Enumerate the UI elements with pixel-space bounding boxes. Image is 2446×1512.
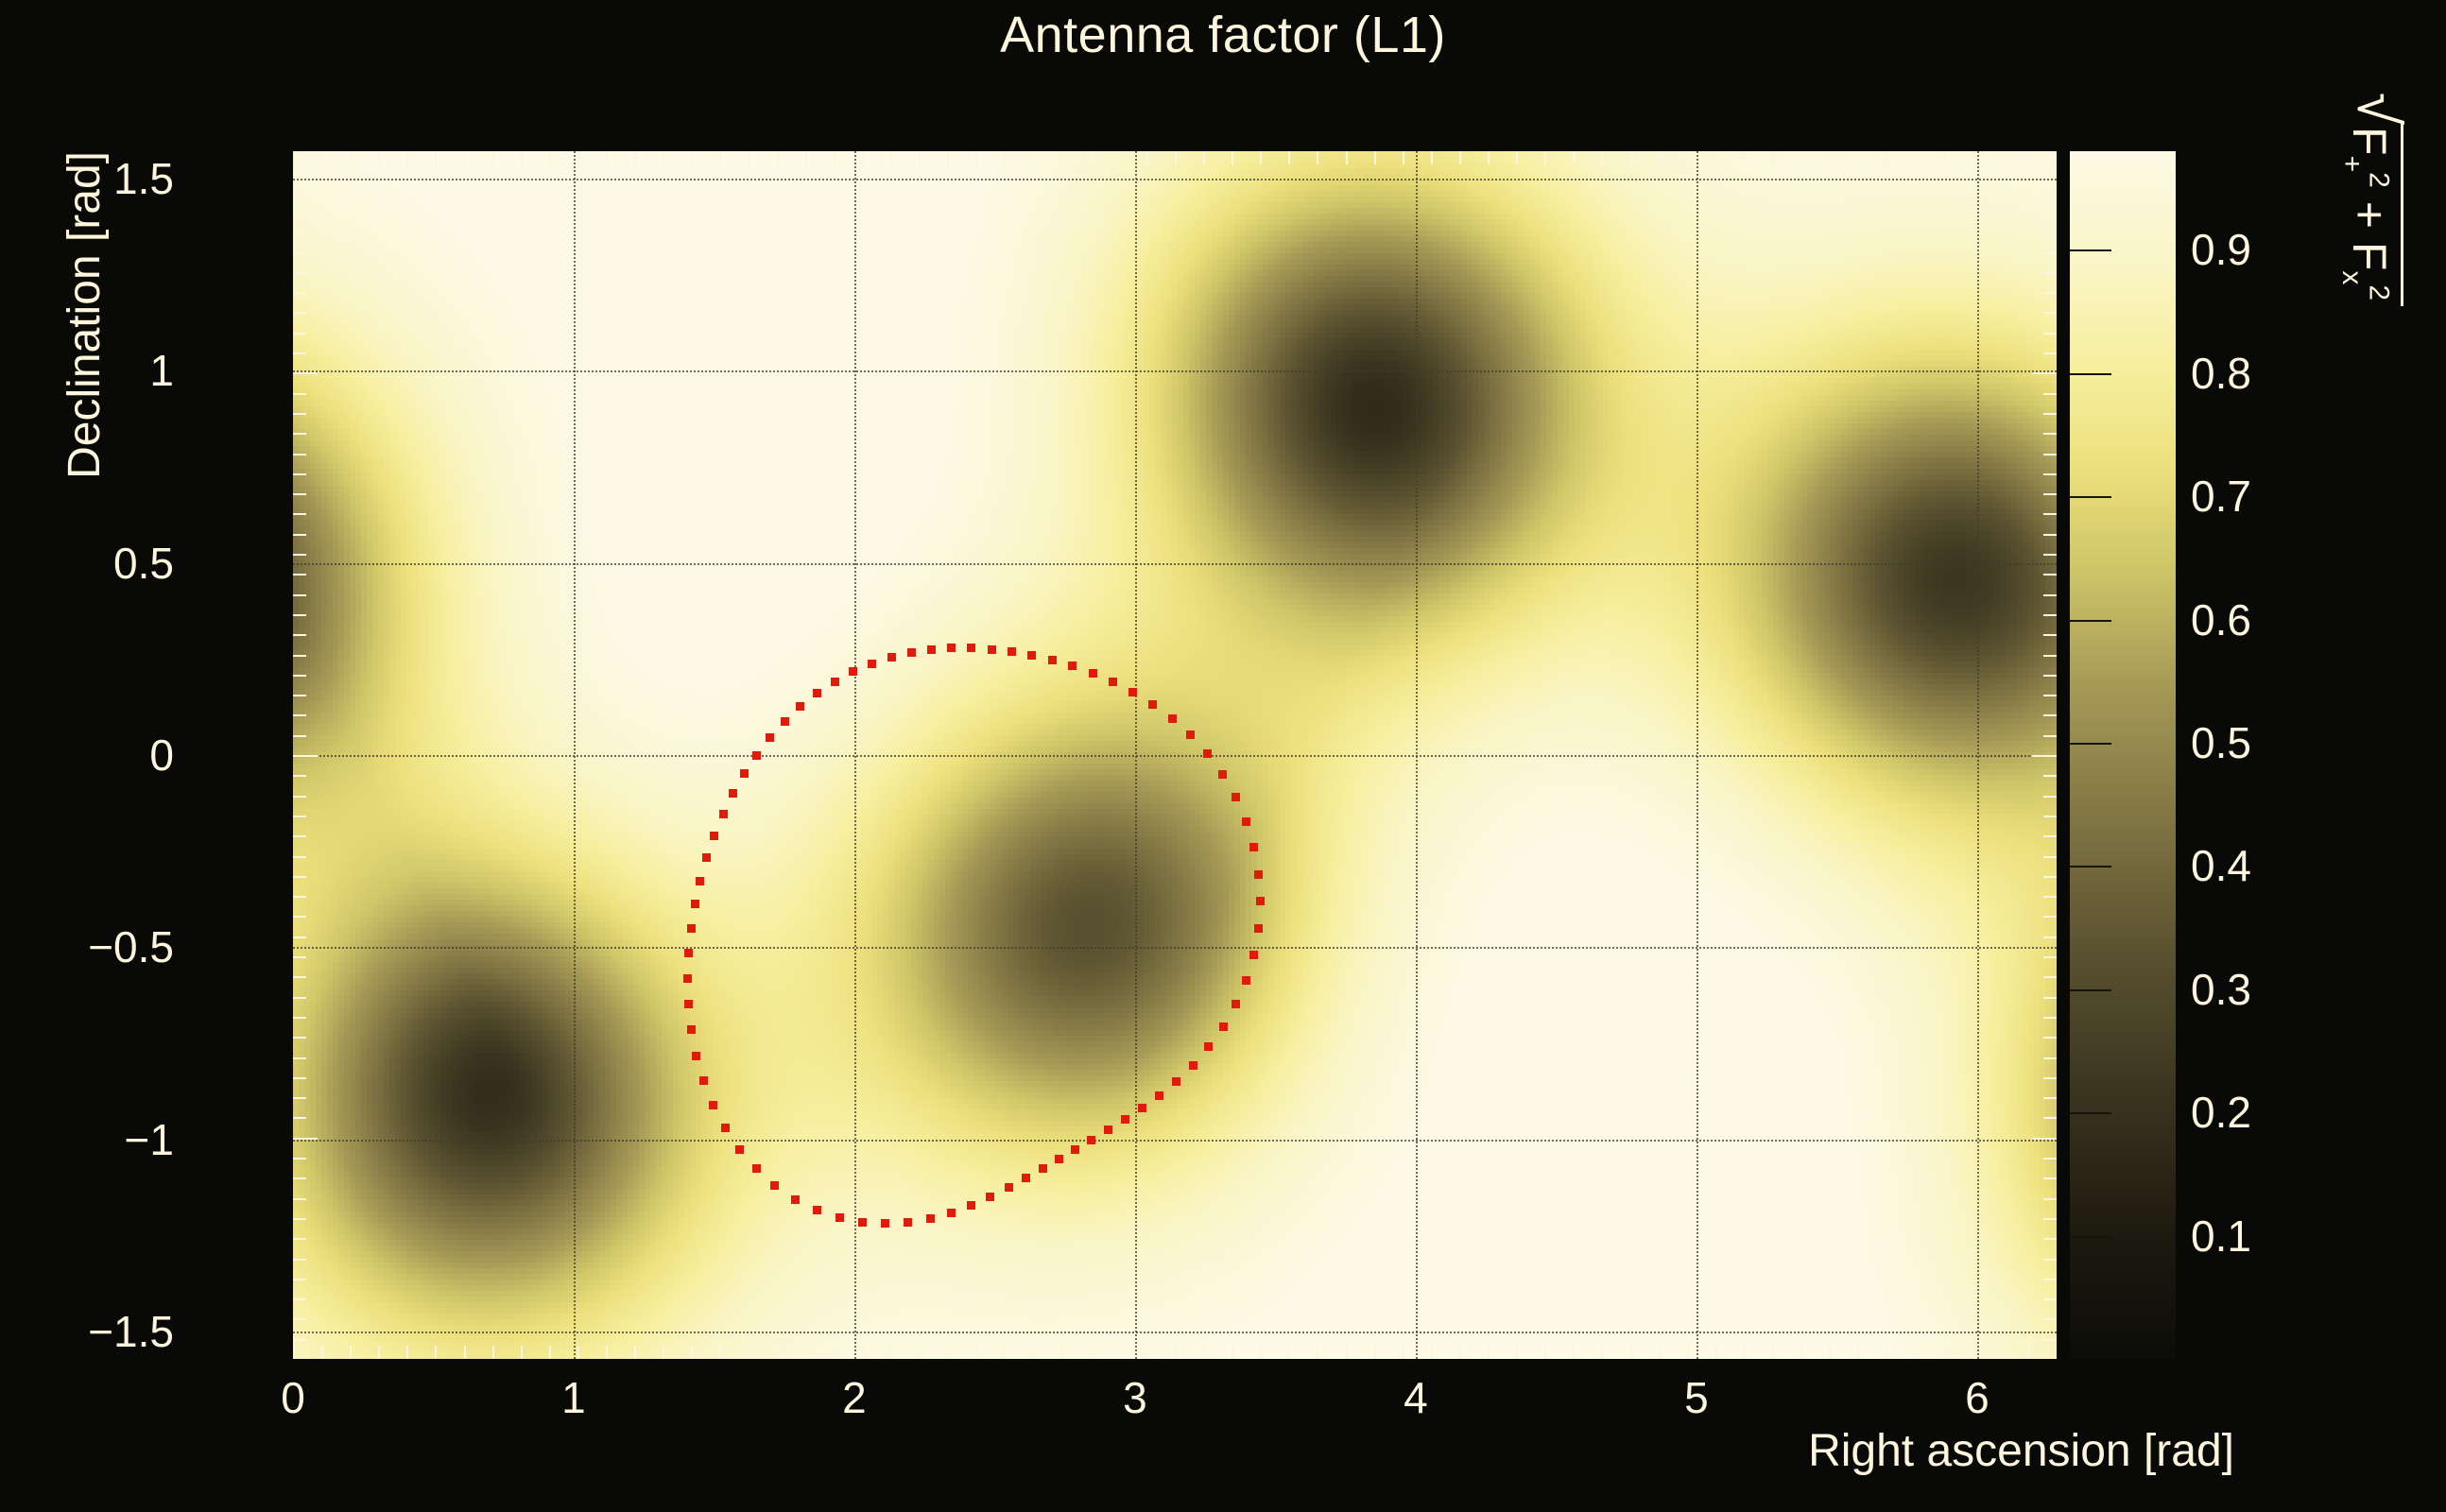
colorbar-tick-label: 0.2: [2191, 1087, 2251, 1138]
colorbar-tick: [2070, 249, 2111, 251]
x-tick-minor: [1516, 1346, 1518, 1359]
y-tick-minor-right: [2043, 1279, 2057, 1280]
x-tick-minor-top: [406, 151, 408, 164]
y-tick-minor-right: [2043, 956, 2057, 958]
x-tick-minor: [1288, 1346, 1290, 1359]
y-tick-minor: [293, 876, 306, 878]
x-tick-minor-top: [1346, 151, 1348, 164]
y-tick-minor-right: [2043, 735, 2057, 737]
y-tick-minor-right: [2043, 513, 2057, 515]
x-tick-minor: [1203, 1346, 1205, 1359]
y-tick-minor: [293, 151, 306, 153]
term1-sup: 2: [2364, 172, 2395, 188]
y-tick-minor: [293, 433, 306, 435]
y-tick-minor-right: [2032, 1138, 2057, 1140]
y-tick-label: 0: [149, 730, 174, 781]
x-tick-minor-top: [1146, 151, 1148, 164]
x-tick-minor-top: [777, 151, 779, 164]
term1-base: F: [2343, 127, 2396, 156]
x-tick-label: 5: [1684, 1372, 1709, 1423]
heatmap-canvas-wrap: [293, 151, 2057, 1359]
term2-sup: 2: [2364, 284, 2395, 301]
x-tick-label: 4: [1404, 1372, 1428, 1423]
y-tick-minor: [293, 1298, 306, 1300]
x-tick-minor-top: [1175, 151, 1177, 164]
colorbar-tick-label: 0.7: [2191, 471, 2251, 522]
y-tick-minor-right: [2043, 1298, 2057, 1300]
x-tick-minor: [1687, 1346, 1689, 1359]
y-tick-minor: [293, 352, 306, 354]
x-tick-minor: [1800, 1346, 1802, 1359]
term2-base: F: [2343, 242, 2396, 271]
x-tick-minor: [1829, 1346, 1831, 1359]
radical-sign: √: [2335, 93, 2403, 125]
y-tick-minor: [293, 1238, 306, 1240]
x-tick-minor: [1004, 1346, 1006, 1359]
y-tick-minor-right: [2043, 856, 2057, 858]
x-tick-minor: [1601, 1346, 1603, 1359]
x-tick-minor-top: [1516, 151, 1518, 164]
y-tick-minor-right: [2043, 352, 2057, 354]
x-tick-minor-top: [890, 151, 892, 164]
x-tick-minor-top: [1573, 151, 1575, 164]
y-tick-minor: [293, 916, 306, 918]
operator: +: [2343, 201, 2396, 229]
x-tick-minor: [1346, 1346, 1348, 1359]
x-tick-minor: [1715, 1346, 1717, 1359]
y-tick-minor: [293, 695, 306, 696]
y-tick-minor-right: [2043, 796, 2057, 798]
y-tick-minor: [293, 393, 306, 395]
x-tick-minor-top: [1090, 151, 1092, 164]
x-tick-minor: [521, 1346, 523, 1359]
y-tick-minor: [293, 614, 306, 616]
x-tick-minor: [435, 1346, 437, 1359]
y-tick-minor-right: [2043, 916, 2057, 918]
x-tick-minor: [1374, 1346, 1376, 1359]
x-tick-minor: [406, 1346, 408, 1359]
y-tick-minor-right: [2043, 454, 2057, 455]
x-tick-minor: [1033, 1346, 1035, 1359]
y-tick-minor: [293, 997, 306, 999]
x-tick-minor-top: [862, 151, 864, 164]
x-tick-minor: [1544, 1346, 1546, 1359]
x-tick-minor: [1431, 1346, 1433, 1359]
x-tick-minor-top: [691, 151, 693, 164]
y-tick-minor-right: [2043, 1238, 2057, 1240]
y-tick-minor-right: [2043, 1318, 2057, 1320]
x-tick-minor-top: [749, 151, 750, 164]
radicand: F+2 + Fx2: [2335, 121, 2403, 306]
x-tick-minor: [1857, 1346, 1859, 1359]
y-tick-minor: [293, 1057, 306, 1059]
x-tick-minor-top: [378, 151, 380, 164]
heatmap-canvas: [293, 151, 2057, 1359]
x-tick-minor-top: [1943, 151, 1945, 164]
y-tick-minor-right: [2043, 1177, 2057, 1179]
y-tick-label: −1.5: [88, 1306, 174, 1357]
x-tick-minor-top: [1687, 151, 1689, 164]
x-tick-minor-top: [719, 151, 721, 164]
term1-sub: +: [2336, 156, 2368, 173]
y-tick-minor-right: [2043, 896, 2057, 898]
radical-icon: √ F+2 + Fx2: [2335, 93, 2403, 306]
y-tick-minor: [293, 1218, 306, 1220]
x-tick-minor: [1232, 1346, 1233, 1359]
y-tick-minor: [293, 1097, 306, 1099]
colorbar-tick: [2070, 866, 2111, 868]
y-tick-minor: [293, 312, 306, 314]
colorbar-tick-label: 0.4: [2191, 840, 2251, 891]
y-tick-minor-right: [2043, 413, 2057, 415]
y-tick-minor-right: [2043, 655, 2057, 657]
y-tick-minor-right: [2043, 675, 2057, 677]
y-tick-label: 1: [149, 345, 174, 396]
x-tick-minor: [1772, 1346, 1774, 1359]
y-tick-minor-right: [2043, 1097, 2057, 1099]
y-tick-minor-right: [2043, 232, 2057, 233]
x-tick-minor: [1659, 1346, 1661, 1359]
y-tick-minor: [293, 1158, 306, 1160]
colorbar-tick: [2070, 743, 2111, 745]
x-tick-minor-top: [1374, 151, 1376, 164]
y-tick-minor: [293, 976, 306, 978]
x-tick-minor-top: [805, 151, 807, 164]
colorbar-tick: [2070, 989, 2111, 991]
y-tick-minor: [293, 735, 306, 737]
colorbar-tick-label: 0.1: [2191, 1211, 2251, 1262]
x-tick-minor: [492, 1346, 494, 1359]
colorbar-tick-label: 0.3: [2191, 964, 2251, 1015]
y-tick-minor-right: [2043, 1259, 2057, 1261]
y-tick-minor: [293, 454, 306, 455]
y-tick-minor-right: [2043, 976, 2057, 978]
y-tick-minor-right: [2043, 1077, 2057, 1079]
y-tick-minor: [293, 956, 306, 958]
y-tick-minor-right: [2043, 212, 2057, 214]
colorbar-tick-label: 0.8: [2191, 348, 2251, 399]
y-tick-minor-right: [2043, 634, 2057, 636]
x-tick-minor-top: [549, 151, 551, 164]
x-tick-minor-top: [1033, 151, 1035, 164]
x-tick-minor: [749, 1346, 750, 1359]
y-tick-minor-right: [2043, 594, 2057, 596]
x-tick-minor: [1630, 1346, 1632, 1359]
y-tick-minor-right: [2032, 372, 2057, 374]
y-tick-minor: [293, 1279, 306, 1280]
y-tick-minor: [293, 1198, 306, 1200]
x-tick-minor-top: [1061, 151, 1063, 164]
x-tick-minor-top: [1915, 151, 1917, 164]
colorbar-tick-label: 0.9: [2191, 224, 2251, 275]
y-tick-minor-right: [2043, 151, 2057, 153]
colorbar-tick-label: 0.5: [2191, 717, 2251, 768]
y-tick-minor: [293, 1077, 306, 1079]
colorbar-tick: [2070, 1112, 2111, 1114]
x-tick-minor: [1573, 1346, 1575, 1359]
x-tick-minor-top: [350, 151, 352, 164]
page-title: Antenna factor (L1): [0, 6, 2446, 64]
x-tick-minor: [2028, 1346, 2030, 1359]
x-tick-minor: [975, 1346, 977, 1359]
colorbar-title: √ F+2 + Fx2: [2317, 93, 2431, 490]
x-tick-minor: [1744, 1346, 1746, 1359]
y-tick-minor: [293, 816, 306, 817]
x-tick-minor: [663, 1346, 664, 1359]
y-tick-minor: [293, 333, 306, 335]
x-tick-minor-top: [1601, 151, 1603, 164]
x-tick-minor-top: [975, 151, 977, 164]
x-tick-minor-top: [1004, 151, 1006, 164]
x-tick-minor: [1972, 1346, 1973, 1359]
x-tick-minor-top: [1886, 151, 1887, 164]
y-tick-minor: [293, 292, 306, 294]
y-tick-minor-right: [2043, 272, 2057, 274]
x-tick-minor: [1403, 1346, 1404, 1359]
y-tick-minor-right: [2043, 1037, 2057, 1039]
x-tick-minor: [1488, 1346, 1490, 1359]
x-tick-minor-top: [1260, 151, 1262, 164]
y-tick-minor-right: [2043, 1158, 2057, 1160]
x-tick-minor: [577, 1346, 579, 1359]
y-tick-minor: [293, 675, 306, 677]
x-tick-minor-top: [1431, 151, 1433, 164]
y-tick-minor-right: [2043, 493, 2057, 495]
y-tick-minor: [293, 1259, 306, 1261]
y-tick-minor: [293, 634, 306, 636]
y-tick-minor: [293, 473, 306, 475]
y-tick-minor-right: [2043, 936, 2057, 938]
x-tick-minor-top: [1203, 151, 1205, 164]
x-tick-label: 3: [1123, 1372, 1147, 1423]
y-tick-minor: [293, 1339, 306, 1341]
x-tick-minor-top: [1544, 151, 1546, 164]
x-tick-minor: [549, 1346, 551, 1359]
x-tick-minor: [862, 1346, 864, 1359]
x-tick-minor: [378, 1346, 380, 1359]
y-tick-minor: [293, 856, 306, 858]
y-tick-minor-right: [2043, 393, 2057, 395]
y-tick-minor-right: [2043, 534, 2057, 536]
colorbar-tick: [2070, 620, 2111, 622]
y-tick-minor: [293, 755, 318, 757]
colorbar-tick: [2070, 1236, 2111, 1238]
x-tick-minor-top: [1403, 151, 1404, 164]
x-tick-minor-top: [1857, 151, 1859, 164]
x-tick-minor: [464, 1346, 466, 1359]
y-tick-minor-right: [2043, 695, 2057, 696]
y-tick-minor-right: [2043, 1057, 2057, 1059]
x-tick-minor: [1915, 1346, 1917, 1359]
x-tick-minor-top: [663, 151, 664, 164]
x-tick-minor: [321, 1346, 323, 1359]
y-tick-minor-right: [2043, 252, 2057, 254]
x-tick-minor-top: [919, 151, 921, 164]
y-tick-minor-right: [2043, 192, 2057, 194]
y-tick-minor-right: [2043, 473, 2057, 475]
x-tick-minor: [834, 1346, 835, 1359]
x-tick-minor: [1061, 1346, 1063, 1359]
x-tick-label: 1: [561, 1372, 586, 1423]
y-tick-minor: [293, 574, 306, 576]
plot-area[interactable]: [293, 151, 2057, 1359]
x-tick-minor-top: [521, 151, 523, 164]
x-tick-minor-top: [1800, 151, 1802, 164]
y-tick-minor: [293, 1037, 306, 1039]
x-tick-minor-top: [1829, 151, 1831, 164]
colorbar-tick: [2070, 496, 2111, 498]
y-tick-minor-right: [2043, 1117, 2057, 1119]
y-axis-title: Declination [rad]: [59, 151, 111, 479]
x-tick-minor-top: [464, 151, 466, 164]
y-tick-minor: [293, 192, 306, 194]
y-tick-minor: [293, 413, 306, 415]
x-tick-minor: [2000, 1346, 2002, 1359]
y-tick-minor-right: [2043, 714, 2057, 716]
x-tick-minor-top: [1715, 151, 1717, 164]
x-tick-label: 0: [281, 1372, 305, 1423]
x-tick-minor-top: [1118, 151, 1120, 164]
y-tick-minor-right: [2043, 816, 2057, 817]
y-tick-minor-right: [2043, 775, 2057, 777]
x-tick-minor: [1459, 1346, 1461, 1359]
y-tick-minor-right: [2032, 755, 2057, 757]
colorbar[interactable]: [2070, 151, 2176, 1359]
x-tick-minor-top: [1232, 151, 1233, 164]
x-tick-minor: [1146, 1346, 1148, 1359]
antenna-factor-plot: Antenna factor (L1) 0123456 1.510.50−0.5…: [0, 0, 2446, 1512]
x-tick-minor: [1118, 1346, 1120, 1359]
y-tick-minor: [293, 775, 306, 777]
x-tick-minor-top: [1288, 151, 1290, 164]
y-tick-minor-right: [2043, 997, 2057, 999]
x-tick-minor: [1943, 1346, 1945, 1359]
y-tick-minor: [293, 1117, 306, 1119]
y-tick-minor-right: [2043, 554, 2057, 556]
x-tick-label: 2: [842, 1372, 867, 1423]
x-tick-minor: [606, 1346, 608, 1359]
y-tick-minor: [293, 796, 306, 798]
x-tick-minor: [1175, 1346, 1177, 1359]
y-tick-minor-right: [2043, 614, 2057, 616]
y-tick-minor: [293, 1138, 318, 1140]
y-tick-minor: [293, 835, 306, 837]
y-tick-minor: [293, 171, 306, 173]
y-tick-minor: [293, 232, 306, 233]
y-tick-minor: [293, 1017, 306, 1019]
colorbar-gradient: [2070, 151, 2176, 1359]
x-tick-minor: [947, 1346, 949, 1359]
colorbar-tick: [2070, 373, 2111, 375]
x-tick-minor-top: [577, 151, 579, 164]
x-tick-label: 6: [1965, 1372, 1990, 1423]
x-tick-minor-top: [1459, 151, 1461, 164]
x-tick-minor-top: [2028, 151, 2030, 164]
x-tick-minor-top: [1630, 151, 1632, 164]
x-tick-minor-top: [492, 151, 494, 164]
colorbar-tick-label: 0.6: [2191, 594, 2251, 645]
y-tick-minor-right: [2043, 433, 2057, 435]
x-tick-minor-top: [2000, 151, 2002, 164]
x-tick-minor-top: [834, 151, 835, 164]
y-tick-minor: [293, 655, 306, 657]
x-tick-minor: [777, 1346, 779, 1359]
x-tick-minor: [719, 1346, 721, 1359]
x-tick-minor: [805, 1346, 807, 1359]
x-tick-minor: [1090, 1346, 1092, 1359]
y-tick-minor: [293, 212, 306, 214]
y-tick-minor-right: [2043, 876, 2057, 878]
y-tick-minor: [293, 594, 306, 596]
x-tick-minor-top: [1488, 151, 1490, 164]
x-tick-minor: [1886, 1346, 1887, 1359]
y-tick-minor: [293, 714, 306, 716]
y-tick-minor: [293, 554, 306, 556]
x-tick-minor: [919, 1346, 921, 1359]
y-tick-label: −1: [125, 1114, 174, 1165]
x-tick-minor: [890, 1346, 892, 1359]
y-tick-minor-right: [2043, 574, 2057, 576]
x-tick-minor-top: [435, 151, 437, 164]
x-tick-minor-top: [947, 151, 949, 164]
colorbar-title-text: √ F+2 + Fx2: [2317, 93, 2421, 490]
y-tick-minor: [293, 372, 318, 374]
x-axis-title: Right ascension [rad]: [1808, 1425, 2234, 1477]
x-tick-minor-top: [1659, 151, 1661, 164]
x-tick-minor: [350, 1346, 352, 1359]
x-tick-minor: [634, 1346, 636, 1359]
y-tick-minor: [293, 1177, 306, 1179]
x-tick-minor-top: [1972, 151, 1973, 164]
y-tick-label: 0.5: [113, 538, 174, 589]
y-tick-minor: [293, 272, 306, 274]
term2-sub: x: [2336, 270, 2368, 284]
y-tick-minor-right: [2043, 171, 2057, 173]
x-tick-minor: [691, 1346, 693, 1359]
x-tick-minor-top: [1772, 151, 1774, 164]
x-tick-minor-top: [1317, 151, 1318, 164]
y-tick-label: −0.5: [88, 921, 174, 972]
x-tick-minor-top: [1744, 151, 1746, 164]
y-tick-minor-right: [2043, 292, 2057, 294]
x-tick-minor: [1317, 1346, 1318, 1359]
y-tick-minor: [293, 896, 306, 898]
y-tick-label: 1.5: [113, 153, 174, 204]
y-tick-minor-right: [2043, 1218, 2057, 1220]
y-tick-minor: [293, 1318, 306, 1320]
y-tick-minor-right: [2043, 1339, 2057, 1341]
y-tick-minor-right: [2043, 312, 2057, 314]
x-tick-minor: [1260, 1346, 1262, 1359]
y-tick-minor: [293, 534, 306, 536]
y-tick-minor: [293, 513, 306, 515]
y-tick-minor-right: [2043, 1017, 2057, 1019]
y-tick-minor-right: [2043, 333, 2057, 335]
x-tick-minor-top: [634, 151, 636, 164]
y-tick-minor: [293, 493, 306, 495]
y-tick-minor-right: [2043, 835, 2057, 837]
y-tick-minor: [293, 936, 306, 938]
x-tick-minor-top: [321, 151, 323, 164]
y-tick-minor-right: [2043, 1198, 2057, 1200]
y-tick-minor: [293, 252, 306, 254]
x-tick-minor-top: [606, 151, 608, 164]
